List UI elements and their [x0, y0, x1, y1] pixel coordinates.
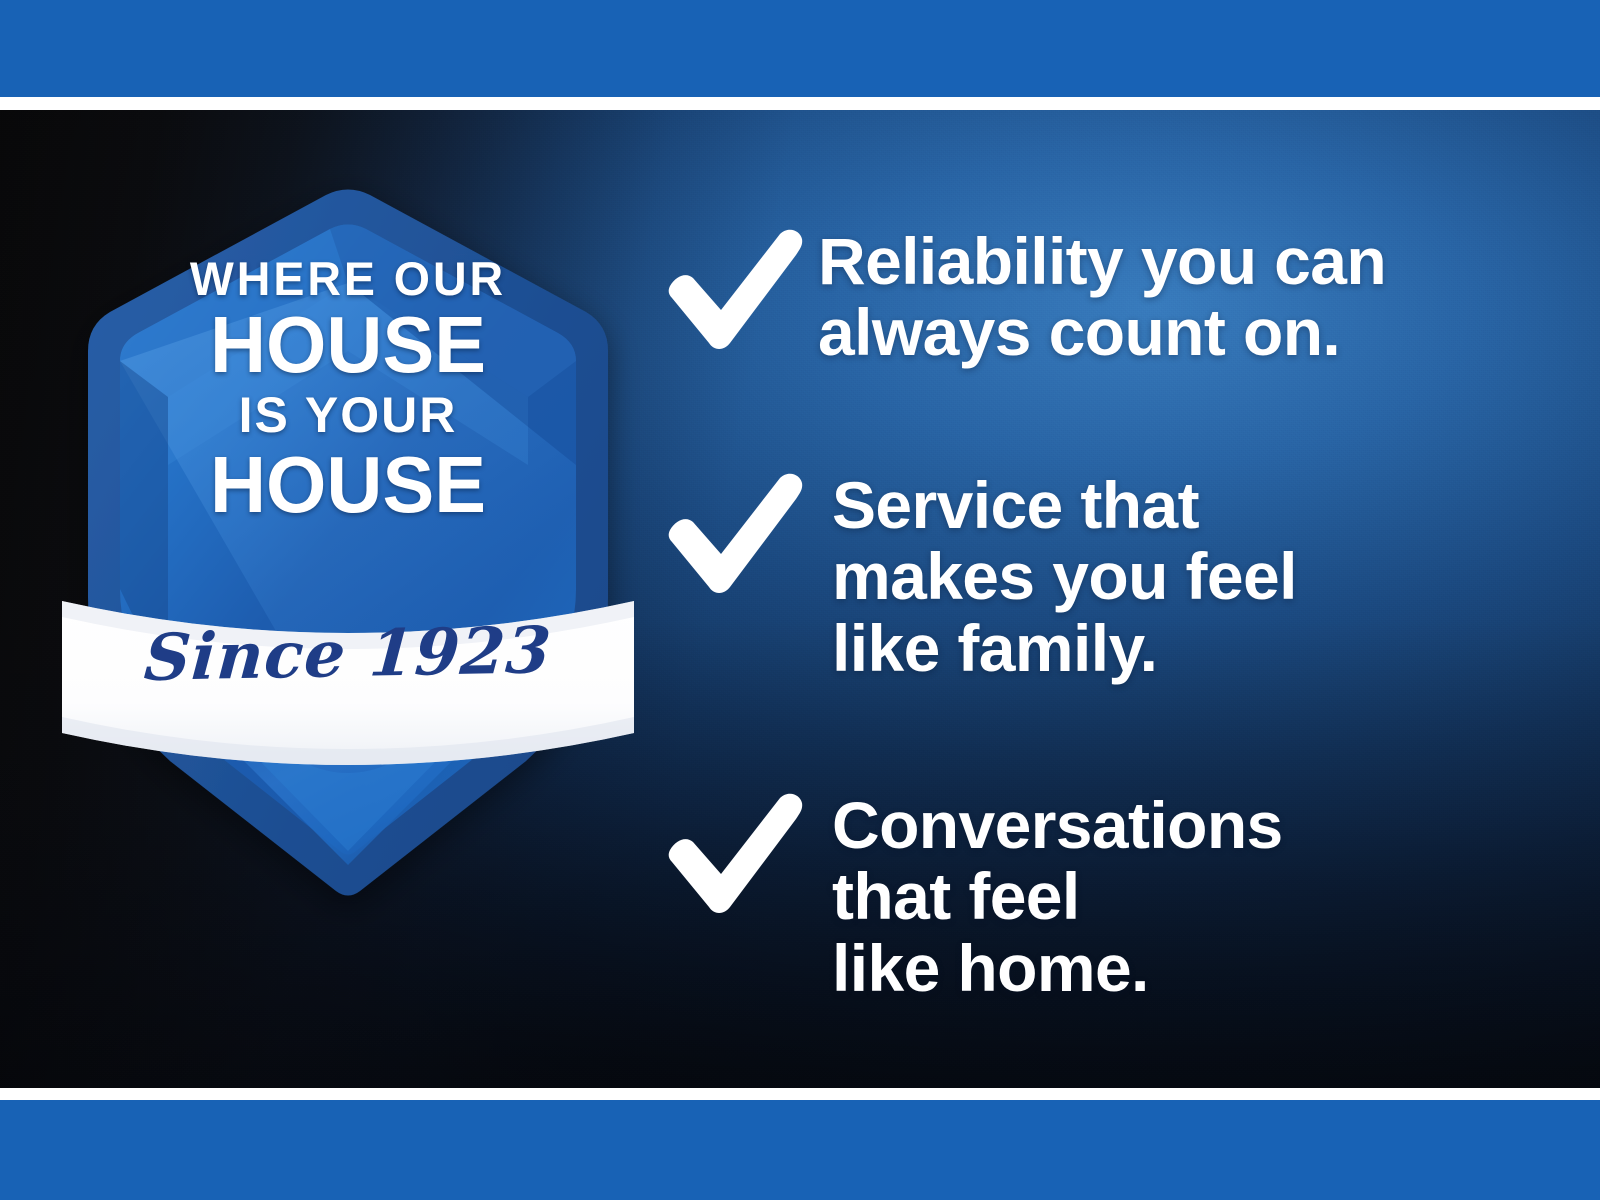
benefit-reliability: Reliability you can always count on.	[660, 222, 1560, 369]
benefit-service: Service that makes you feel like family.	[660, 466, 1560, 684]
bottom-brand-bar	[0, 1100, 1600, 1200]
benefit-conversations: Conversations that feel like home.	[660, 786, 1560, 1004]
check-mark-icon	[660, 788, 810, 920]
shield-badge: WHERE OUR HOUSE IS YOUR HOUSE Since 1923	[58, 165, 638, 825]
benefit-text: Reliability you can always count on.	[818, 222, 1560, 369]
check-mark-icon	[660, 224, 810, 356]
top-brand-bar	[0, 0, 1600, 97]
check-mark-icon	[660, 468, 810, 600]
promo-graphic: WHERE OUR HOUSE IS YOUR HOUSE Since 1923…	[0, 0, 1600, 1200]
benefit-text: Conversations that feel like home.	[832, 786, 1560, 1004]
benefit-text: Service that makes you feel like family.	[832, 466, 1560, 684]
benefits-list: Reliability you can always count on. Ser…	[660, 110, 1560, 1088]
